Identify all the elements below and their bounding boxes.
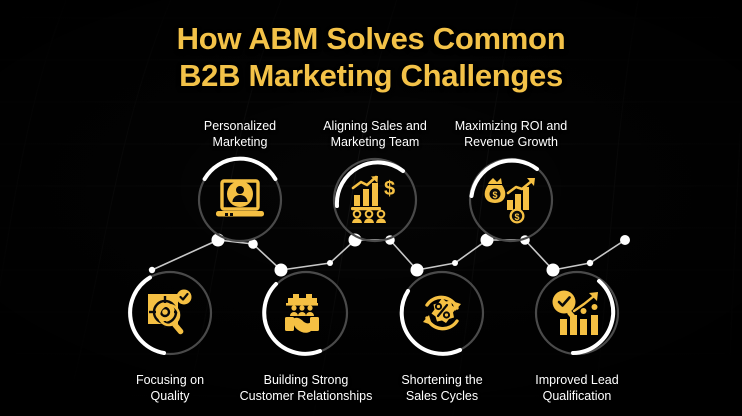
title-line-1: How ABM Solves Common — [0, 20, 742, 57]
challenge-node-improved-lead-qualification[interactable]: Improved Lead Qualification — [497, 269, 657, 404]
money-bag-growth-icon: $ $ — [467, 156, 555, 244]
title-line-2: B2B Marketing Challenges — [0, 57, 742, 94]
node-label: Improved Lead Qualification — [497, 372, 657, 404]
bar-chart-team-dollar-icon: $ — [331, 156, 419, 244]
infographic-canvas: How ABM Solves Common B2B Marketing Chal… — [0, 0, 742, 416]
target-magnifier-check-icon — [126, 269, 214, 357]
magnifier-check-chart-icon — [533, 269, 621, 357]
page-title: How ABM Solves Common B2B Marketing Chal… — [0, 20, 742, 94]
cycle-percent-icon — [398, 269, 486, 357]
laptop-user-icon — [196, 156, 284, 244]
node-label: Maximizing ROI and Revenue Growth — [431, 118, 591, 150]
svg-text:$: $ — [492, 190, 497, 200]
handshake-people-icon — [262, 269, 350, 357]
svg-text:$: $ — [514, 212, 519, 222]
svg-text:$: $ — [384, 178, 395, 200]
challenge-node-maximizing-roi[interactable]: Maximizing ROI and Revenue Growth $ — [431, 118, 591, 248]
